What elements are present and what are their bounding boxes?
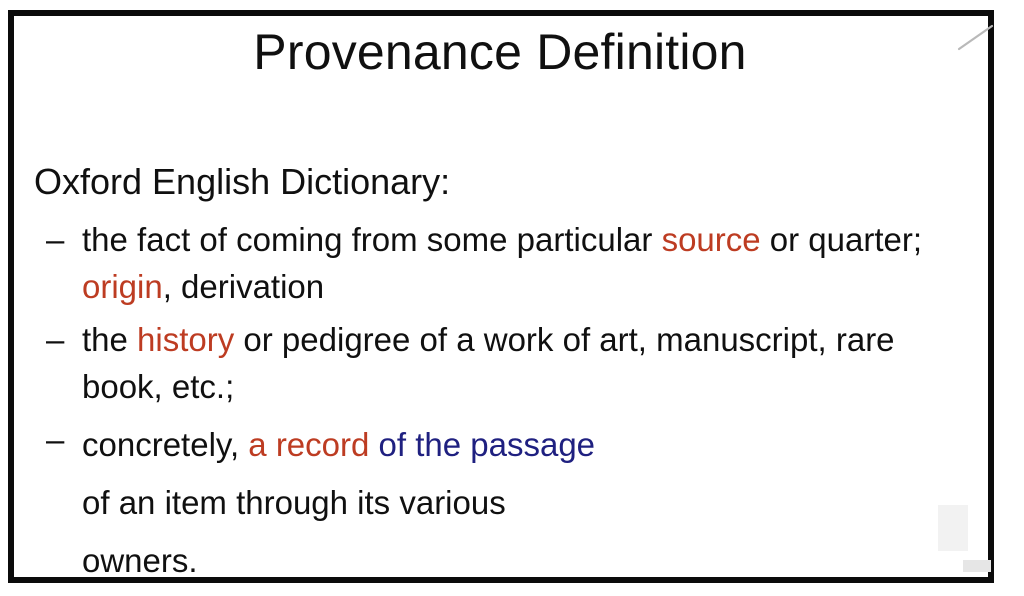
slide-body: Oxford English Dictionary: – the fact of…	[34, 160, 980, 596]
highlight-history: history	[137, 321, 234, 358]
page-title: Provenance Definition	[0, 22, 1000, 82]
list-item: – concretely, a record of the passage of…	[34, 416, 980, 590]
definition-text-plain: book, etc.;	[82, 368, 234, 405]
definition-line: the history or pedigree of a work of art…	[82, 316, 980, 363]
definition-text-plain: , derivation	[163, 268, 324, 305]
highlight-source: source	[662, 221, 761, 258]
source-heading: Oxford English Dictionary:	[34, 160, 980, 204]
highlight-origin: origin	[82, 268, 163, 305]
list-item: – the fact of coming from some particula…	[34, 216, 980, 310]
definition-text-plain: or quarter;	[761, 221, 922, 258]
definition-text-plain: the	[82, 321, 137, 358]
bullet-dash-icon: –	[46, 216, 64, 263]
definition-list: – the fact of coming from some particula…	[34, 216, 980, 590]
definition-text-plain: of an item through its various	[82, 484, 506, 521]
definition-text-plain: concretely,	[82, 426, 248, 463]
definition-line: owners.	[82, 532, 980, 590]
definition-line: book, etc.;	[82, 363, 980, 410]
slide-canvas: Provenance Definition Oxford English Dic…	[0, 0, 1024, 595]
definition-line: concretely, a record of the passage	[82, 416, 980, 474]
definition-text-plain: or pedigree of a work of art, manuscript…	[234, 321, 894, 358]
list-item: – the history or pedigree of a work of a…	[34, 316, 980, 410]
bullet-dash-icon: –	[46, 316, 64, 363]
definition-text-plain: the fact of coming from some particular	[82, 221, 662, 258]
bullet-dash-icon: –	[46, 416, 64, 463]
highlight-a-record: a record	[248, 426, 369, 463]
definition-line: origin, derivation	[82, 263, 980, 310]
definition-line: of an item through its various	[82, 474, 980, 532]
highlight-of-the-passage: of the passage	[369, 426, 595, 463]
definition-line: the fact of coming from some particular …	[82, 216, 980, 263]
definition-text-plain: owners.	[82, 542, 198, 579]
